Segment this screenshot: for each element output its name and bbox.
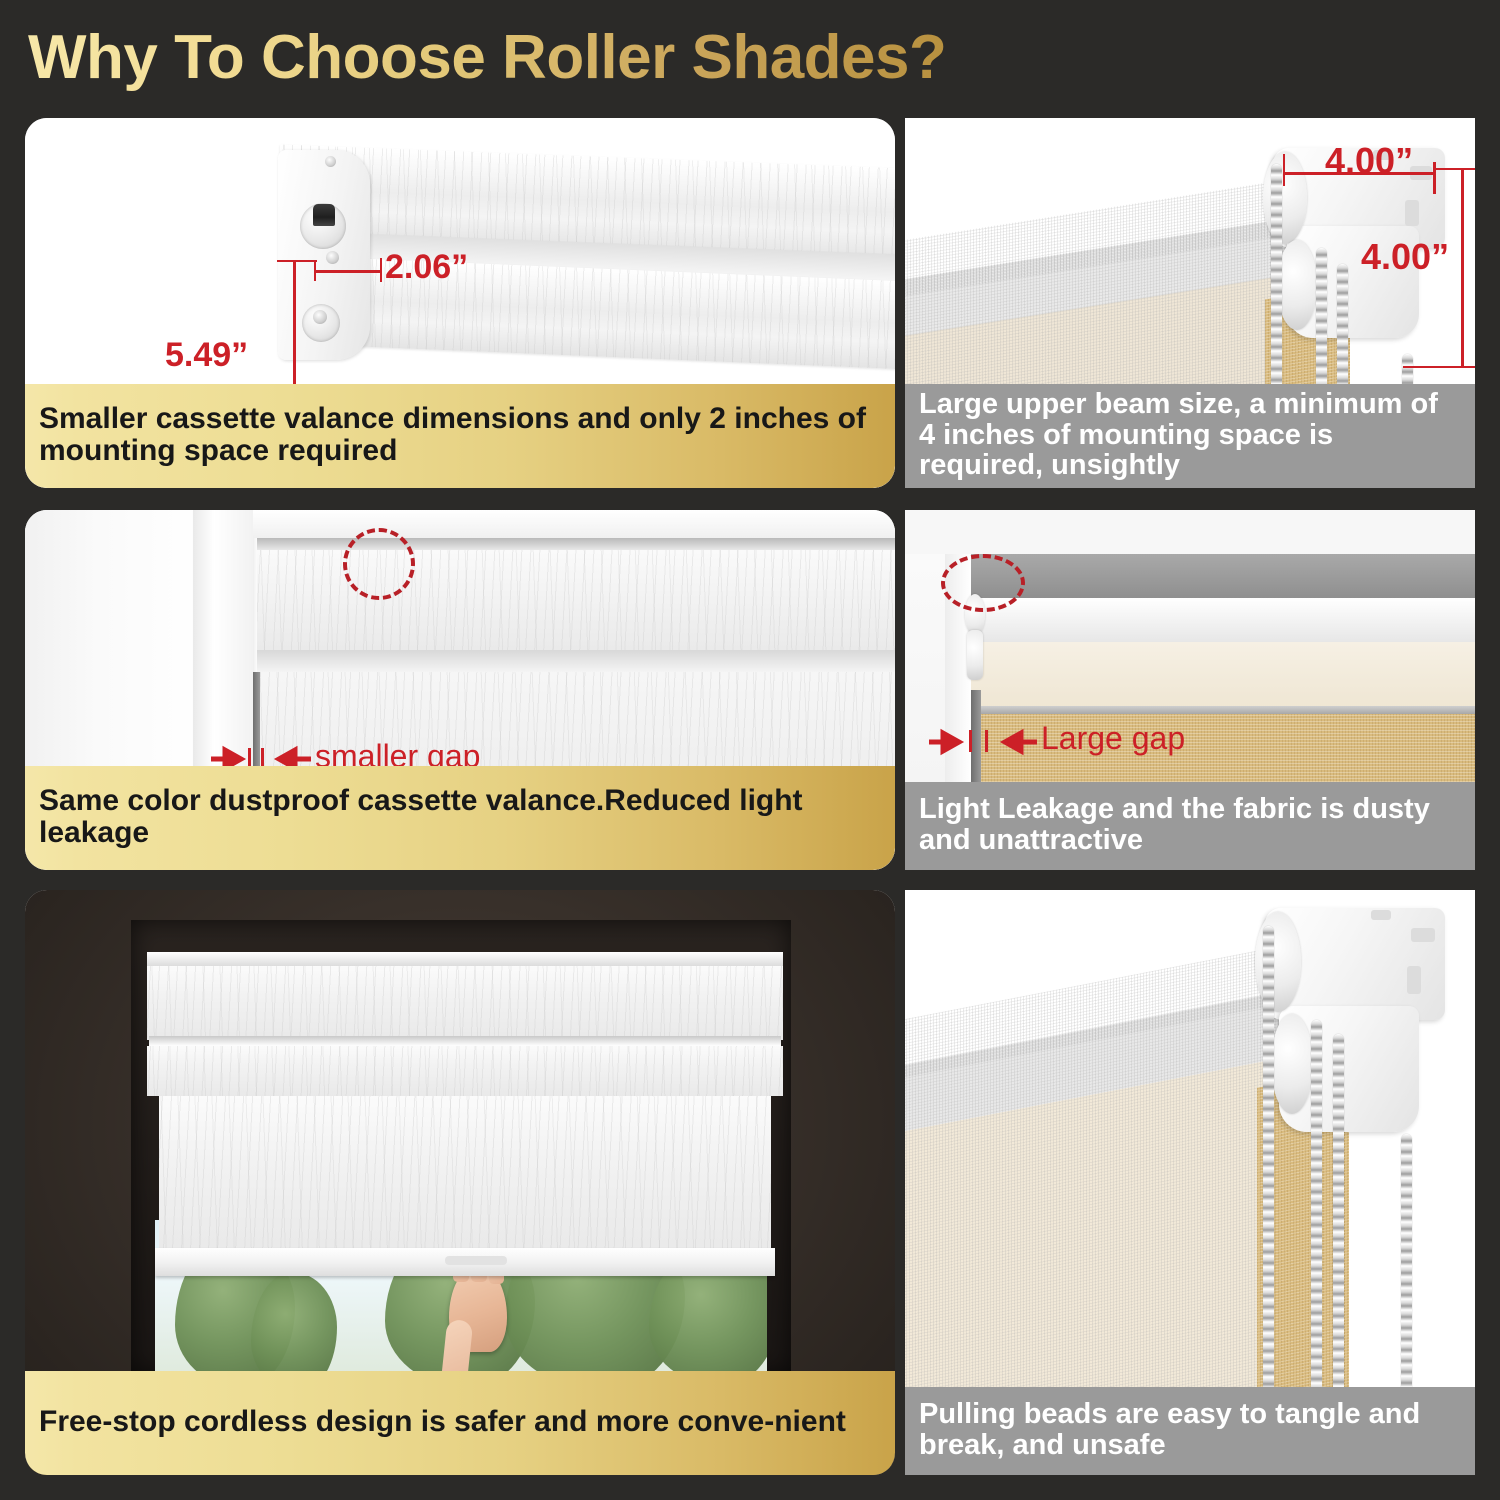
highlight-circle [941, 554, 1025, 612]
bead-chain-1 [1263, 926, 1274, 1421]
screw-top [325, 156, 336, 167]
cassette-valance [147, 966, 783, 1040]
panel-4-caption: Light Leakage and the fabric is dusty an… [905, 782, 1475, 870]
gap-tick-left [969, 730, 972, 752]
panel-1-caption-text: Smaller cassette valance dimensions and … [39, 403, 881, 467]
bead-chain-4 [1401, 1134, 1412, 1420]
panel-2-caption: Large upper beam size, a minimum of 4 in… [905, 384, 1475, 488]
valance-lower-lip [147, 1046, 783, 1096]
height-dimension-label: 5.49” [165, 336, 248, 375]
bracket-notch-b [1407, 966, 1421, 994]
bracket-notch-a [1411, 928, 1435, 942]
panel-5-caption-text: Free-stop cordless design is safer and m… [39, 1406, 881, 1438]
beam-width-label: 4.00” [1325, 140, 1413, 182]
panel-cordless-design: Free-stop cordless design is safer and m… [25, 890, 895, 1475]
window-frame-head [253, 510, 895, 538]
height-dim-tick-top [277, 260, 317, 262]
beam-width-tick-left [1283, 154, 1285, 186]
gap-tick-right [261, 748, 264, 768]
panel-smaller-cassette: 2.06” 5.49” Smaller cassette valance dim… [25, 118, 895, 488]
top-rail-dark [963, 554, 1475, 600]
screw-lower [313, 310, 327, 324]
fabric-cream-band [963, 642, 1475, 710]
bead-chain-3 [1333, 1034, 1344, 1420]
rail-grip-tab [445, 1256, 507, 1265]
highlight-circle [343, 528, 415, 600]
clutch-body [967, 630, 983, 680]
comparison-grid: 2.06” 5.49” Smaller cassette valance dim… [0, 0, 1500, 1500]
beam-height-tick-top [1435, 168, 1475, 170]
mechanism-slot [313, 204, 335, 226]
beam-height-tick-bottom [1403, 366, 1475, 368]
bracket-notch-c [1371, 910, 1391, 920]
roller-end-disc-lower [1271, 1014, 1313, 1114]
beam-height-label: 4.00” [1361, 236, 1449, 278]
roller-end-disc-upper [1255, 912, 1301, 1012]
panel-3-caption: Same color dustproof cassette valance.Re… [25, 766, 895, 870]
bracket-notch-b [1405, 200, 1419, 226]
beam-height-line [1461, 168, 1464, 368]
gap-tick-right [985, 730, 988, 752]
shade-fabric [159, 1096, 771, 1256]
panel-large-upper-beam: 4.00” 4.00” Large upper beam size, a min… [905, 118, 1475, 488]
roller-tube-white [963, 598, 1475, 644]
panel-5-caption: Free-stop cordless design is safer and m… [25, 1371, 895, 1475]
panel-6-caption-text: Pulling beads are easy to tangle and bre… [919, 1399, 1461, 1460]
roller-end-disc-upper [1263, 152, 1307, 244]
panel-6-caption: Pulling beads are easy to tangle and bre… [905, 1387, 1475, 1475]
panel-light-leakage: Large gap Light Leakage and the fabric i… [905, 510, 1475, 870]
valance-groove [149, 1036, 781, 1046]
panel-pulling-beads: Pulling beads are easy to tangle and bre… [905, 890, 1475, 1475]
large-gap-label: Large gap [1041, 720, 1185, 757]
panel-dustproof-valance: smaller gap Same color dustproof cassett… [25, 510, 895, 870]
screw-upper [326, 251, 339, 264]
bead-chain-2 [1311, 1020, 1322, 1420]
roller-end-disc-lower [1277, 240, 1317, 330]
valance-lip [257, 650, 895, 672]
wall-surface [25, 510, 205, 800]
gap-arrow-left-icon [929, 728, 969, 756]
wall-top [905, 510, 1475, 554]
panel-1-caption: Smaller cassette valance dimensions and … [25, 384, 895, 488]
panel-4-caption-text: Light Leakage and the fabric is dusty an… [919, 794, 1461, 855]
valance-top-edge [147, 952, 783, 966]
panel-3-caption-text: Same color dustproof cassette valance.Re… [39, 785, 881, 849]
gap-arrow-right-icon [993, 728, 1037, 756]
beam-width-tick-right [1433, 162, 1436, 194]
infographic-page: Why To Choose Roller Shades? [0, 0, 1500, 1500]
panel-2-caption-text: Large upper beam size, a minimum of 4 in… [919, 389, 1461, 481]
width-dimension-label: 2.06” [385, 248, 468, 287]
width-dim-line [314, 270, 382, 273]
